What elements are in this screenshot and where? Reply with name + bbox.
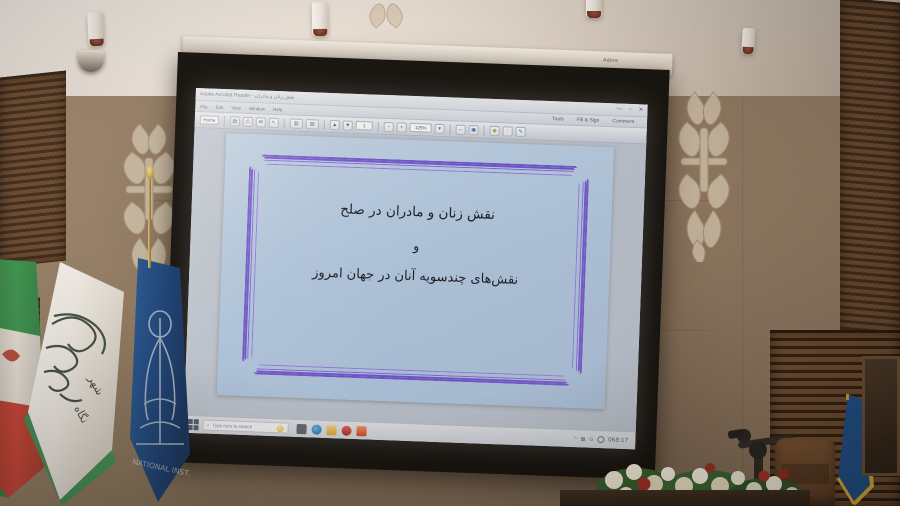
taskbar-pinned-apps bbox=[296, 423, 366, 436]
framed-picture bbox=[862, 356, 900, 476]
wooden-slat-panel-left bbox=[0, 71, 66, 268]
conference-hall-photo: Adore نقش زنان و مادران - Adobe Acrobat … bbox=[0, 0, 900, 506]
flag-pole-finial bbox=[146, 166, 154, 179]
zoom-level-input[interactable]: 125% bbox=[410, 123, 432, 133]
blue-institute-flag: NATIONAL INST. bbox=[118, 258, 214, 506]
ceiling-downlight bbox=[87, 12, 105, 47]
window-title: نقش زنان و مادران - Adobe Acrobat Reader bbox=[200, 91, 295, 100]
menu-window[interactable]: Window bbox=[249, 105, 265, 111]
arabesque-ornament-top bbox=[356, 2, 416, 32]
window-controls: — ▫ ✕ bbox=[616, 106, 643, 113]
taskbar-search-input[interactable]: ⌕ Type here to search bbox=[202, 419, 288, 433]
toolbar-spacer bbox=[529, 132, 642, 136]
page-number-input[interactable]: 1 bbox=[356, 121, 373, 131]
screen-brand-label: Adore bbox=[603, 57, 619, 64]
office-icon[interactable] bbox=[356, 426, 366, 436]
cortana-icon[interactable] bbox=[276, 425, 283, 432]
zoom-in-button[interactable]: + bbox=[397, 122, 407, 132]
wall-speaker bbox=[741, 28, 755, 55]
tab-comment[interactable]: Comment bbox=[612, 118, 634, 125]
next-page-button[interactable]: ▼ bbox=[343, 120, 353, 130]
email-icon[interactable]: ✉ bbox=[256, 117, 266, 127]
zoom-dropdown-icon[interactable]: ▾ bbox=[435, 123, 445, 133]
tab-tools[interactable]: Tools bbox=[552, 116, 564, 122]
ceiling-downlight bbox=[312, 2, 329, 36]
maximize-button[interactable]: ▫ bbox=[629, 107, 631, 113]
signature-icon[interactable]: ✎ bbox=[515, 126, 525, 136]
menu-file[interactable]: File bbox=[200, 104, 207, 109]
explorer-icon[interactable] bbox=[326, 425, 336, 435]
task-view-icon[interactable] bbox=[296, 423, 306, 433]
search-placeholder: Type here to search bbox=[212, 423, 252, 429]
pdf-page: نقش زنان و مادران در صلح و نقش‌های چندسو… bbox=[217, 133, 614, 409]
ceiling-downlight bbox=[586, 0, 602, 18]
arabesque-ornament-right bbox=[668, 86, 742, 262]
menu-edit[interactable]: Edit bbox=[216, 104, 224, 109]
menu-view[interactable]: View bbox=[231, 105, 241, 110]
toolbar-divider bbox=[378, 121, 379, 131]
comment-icon[interactable]: ♡ bbox=[502, 126, 512, 136]
close-button[interactable]: ✕ bbox=[638, 107, 643, 113]
pdf-reader-window: نقش زنان و مادران - Adobe Acrobat Reader… bbox=[183, 88, 647, 449]
right-tab-group: Tools Fill & Sign Comment bbox=[552, 116, 642, 125]
fit-page-icon[interactable]: ▣ bbox=[468, 125, 478, 135]
minimize-button[interactable]: — bbox=[616, 106, 622, 112]
slide-conjunction: و bbox=[268, 232, 564, 258]
zoom-out-button[interactable]: − bbox=[384, 121, 394, 131]
podium-table-edge bbox=[560, 490, 810, 506]
toolbar-divider bbox=[284, 118, 285, 128]
flag-pole bbox=[148, 178, 151, 268]
tray-chevron-icon[interactable]: ^ bbox=[574, 436, 577, 442]
projector-screen-surface: نقش زنان و مادران - Adobe Acrobat Reader… bbox=[183, 88, 647, 449]
save-icon[interactable]: ▤ bbox=[230, 116, 240, 126]
tab-fill-and-sign[interactable]: Fill & Sign bbox=[577, 117, 600, 124]
pdf-document-area[interactable]: نقش زنان و مادران در صلح و نقش‌های چندسو… bbox=[184, 128, 646, 431]
prev-page-button[interactable]: ▲ bbox=[330, 119, 340, 129]
home-button[interactable]: Home bbox=[200, 115, 219, 125]
highlight-icon[interactable]: ◉ bbox=[489, 125, 499, 135]
network-icon[interactable]: ▦ bbox=[581, 436, 586, 442]
toolbar-divider bbox=[449, 124, 450, 134]
wooden-slat-panel-right bbox=[840, 0, 900, 343]
edge-icon[interactable] bbox=[311, 424, 321, 434]
acrobat-icon[interactable] bbox=[341, 425, 351, 435]
toolbar-divider bbox=[483, 125, 484, 135]
print-icon[interactable]: ⎙ bbox=[243, 116, 253, 126]
toolbar-divider bbox=[224, 116, 225, 126]
scroll-mode-icon[interactable]: ▤ bbox=[306, 119, 319, 129]
fit-width-icon[interactable]: ↔ bbox=[455, 124, 465, 134]
toolbar-divider bbox=[324, 119, 325, 129]
slide-text-block: نقش زنان و مادران در صلح و نقش‌های چندسو… bbox=[267, 199, 566, 291]
language-icon[interactable]: G bbox=[589, 436, 593, 442]
page-fit-icon[interactable]: ▥ bbox=[290, 118, 303, 128]
menu-help[interactable]: Help bbox=[273, 106, 282, 111]
select-tool-icon[interactable]: ↖ bbox=[269, 117, 279, 127]
